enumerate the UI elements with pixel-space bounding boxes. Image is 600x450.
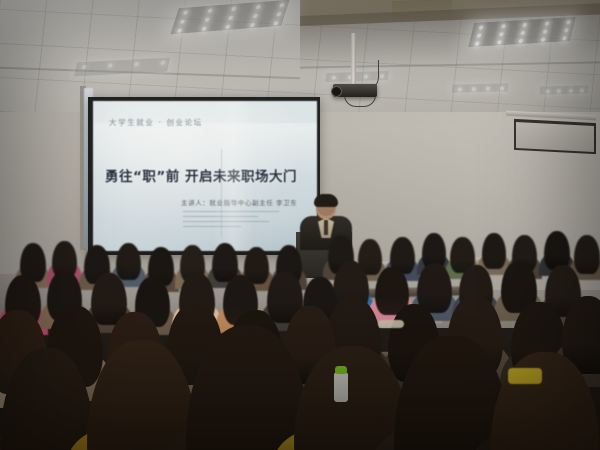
light-bulb	[160, 61, 165, 65]
slide-title-text: 勇往“职”前 开启未来职场大门	[105, 165, 311, 185]
light-bulb	[82, 65, 87, 69]
light-bulb	[477, 33, 482, 37]
light-bulb	[500, 24, 505, 28]
slide-header-text: 大学生就业 · 创业论坛	[109, 117, 203, 128]
light-bulb	[557, 89, 561, 93]
ceiling-light-far	[452, 83, 509, 92]
light-bulb	[458, 87, 462, 91]
light-bulb	[479, 25, 484, 29]
audience-member	[196, 330, 300, 450]
audience-member-hair	[186, 325, 311, 450]
audience-member-hair	[491, 352, 599, 450]
light-bulb	[108, 64, 113, 68]
lecture-hall-photo: 大学生就业 · 创业论坛 勇往“职”前 开启未来职场大门 主讲人：就业指导中心副…	[0, 0, 600, 450]
presenter-tie	[324, 220, 328, 235]
light-bulb	[518, 39, 523, 43]
light-bulb	[500, 86, 504, 90]
light-bulb	[231, 7, 236, 11]
light-bulb	[380, 74, 385, 78]
light-bulb	[183, 10, 188, 14]
audience-member	[576, 236, 598, 282]
light-bulb	[472, 87, 476, 91]
ceiling-light-edge	[540, 85, 589, 94]
light-bulb	[540, 38, 545, 42]
audience-member-hair	[482, 233, 506, 269]
audience-member-hair	[0, 348, 94, 450]
screen-glare	[213, 101, 253, 251]
audience-member	[304, 350, 400, 450]
light-bulb	[564, 28, 569, 32]
light-bulb	[568, 89, 572, 93]
light-bulb	[562, 36, 567, 40]
light-bulb	[522, 23, 527, 27]
left-wall	[0, 84, 92, 274]
retracted-wall-screen	[514, 119, 596, 154]
light-bulb	[520, 31, 525, 35]
projector-lens-icon	[331, 86, 342, 97]
light-bulb	[276, 12, 281, 16]
light-bulb	[255, 5, 260, 9]
light-bulb	[546, 89, 550, 93]
light-bulb	[542, 30, 547, 34]
light-bulb	[252, 14, 257, 18]
light-bulb	[496, 40, 501, 44]
presenter-hair	[314, 194, 338, 207]
audience-member	[404, 340, 500, 450]
audience-member	[8, 352, 86, 450]
water-bottle	[334, 372, 348, 402]
light-bulb	[177, 28, 182, 32]
bottle-cap	[335, 366, 347, 374]
light-bulb	[180, 19, 185, 23]
light-bulb	[207, 9, 212, 13]
light-bulb	[580, 88, 584, 92]
light-bulb	[201, 27, 206, 31]
light-bulb	[544, 22, 549, 26]
light-bulb	[279, 3, 284, 7]
projection-screen: 大学生就业 · 创业论坛 勇往“职”前 开启未来职场大门 主讲人：就业指导中心副…	[93, 101, 317, 251]
audience-member	[96, 344, 188, 450]
light-bulb	[134, 62, 139, 66]
light-bulb	[273, 21, 278, 25]
light-bulb	[498, 32, 503, 36]
light-bulb	[486, 87, 490, 91]
light-bulb	[225, 25, 230, 29]
light-bulb	[475, 41, 480, 45]
light-bulb	[249, 23, 254, 27]
light-bulb	[566, 20, 571, 24]
light-bulb	[204, 18, 209, 22]
light-bulb	[332, 76, 337, 80]
audience-member-hair	[544, 231, 570, 270]
light-bulb	[228, 16, 233, 20]
yellow-bag	[508, 368, 542, 384]
notebook	[378, 320, 404, 328]
